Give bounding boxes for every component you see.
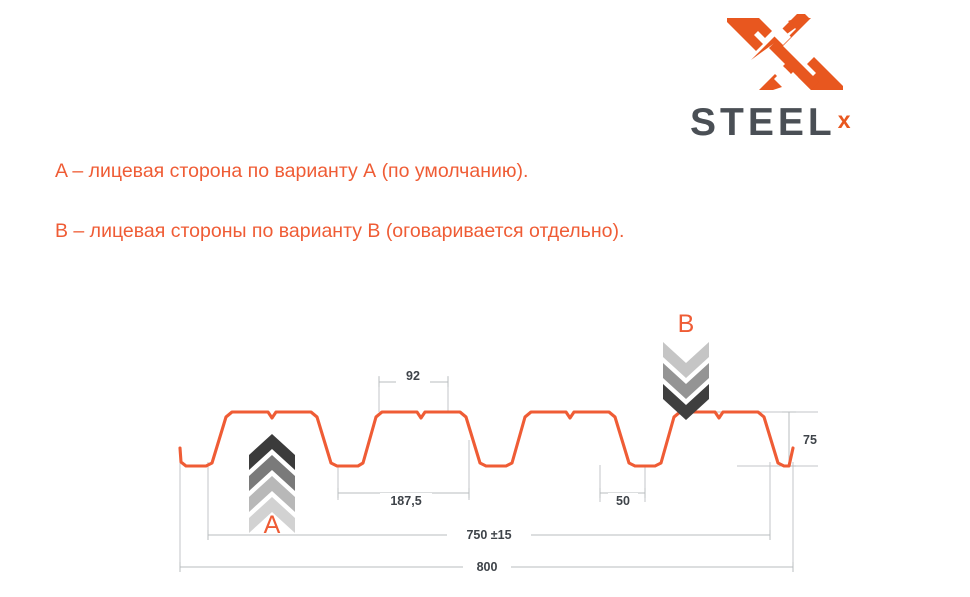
dimension-valley-width: 50: [600, 488, 645, 510]
dimension-label-800: 800: [477, 560, 498, 574]
dimension-label-92: 92: [406, 369, 420, 383]
logo-steel-text: STEEL: [690, 103, 836, 142]
marker-front-side-a: A: [249, 434, 295, 539]
marker-front-side-b: B: [663, 310, 709, 420]
note-variant-b: B – лицевая стороны по варианту B (огова…: [55, 220, 624, 243]
steelx-logo: STEEL x: [690, 14, 910, 139]
steelx-wordmark: STEEL x: [690, 102, 910, 142]
chevron-down-stack-icon: [663, 342, 709, 420]
steelx-x-mark-icon: [725, 14, 845, 94]
profile-svg: 92 187,5 50: [0, 290, 970, 597]
dimension-total-width: 800: [180, 558, 793, 575]
profile-technical-drawing: 92 187,5 50: [0, 290, 970, 597]
dimension-height: 75: [782, 412, 817, 466]
dimension-label-187-5: 187,5: [390, 494, 421, 508]
note-variant-a: A – лицевая сторона по варианту А (по ум…: [55, 160, 528, 183]
dimension-label-750: 750 ±15: [466, 528, 511, 542]
logo-x-superscript: x: [838, 109, 851, 132]
dimension-label-50: 50: [616, 494, 630, 508]
dimension-rib-top-width: 92: [379, 368, 448, 387]
marker-label-b: B: [678, 310, 695, 338]
dimension-pitch: 187,5: [338, 488, 469, 510]
profile-drawing-page: STEEL x A – лицевая сторона по варианту …: [0, 0, 970, 597]
dimension-label-75: 75: [803, 433, 817, 447]
marker-label-a: A: [264, 511, 281, 539]
